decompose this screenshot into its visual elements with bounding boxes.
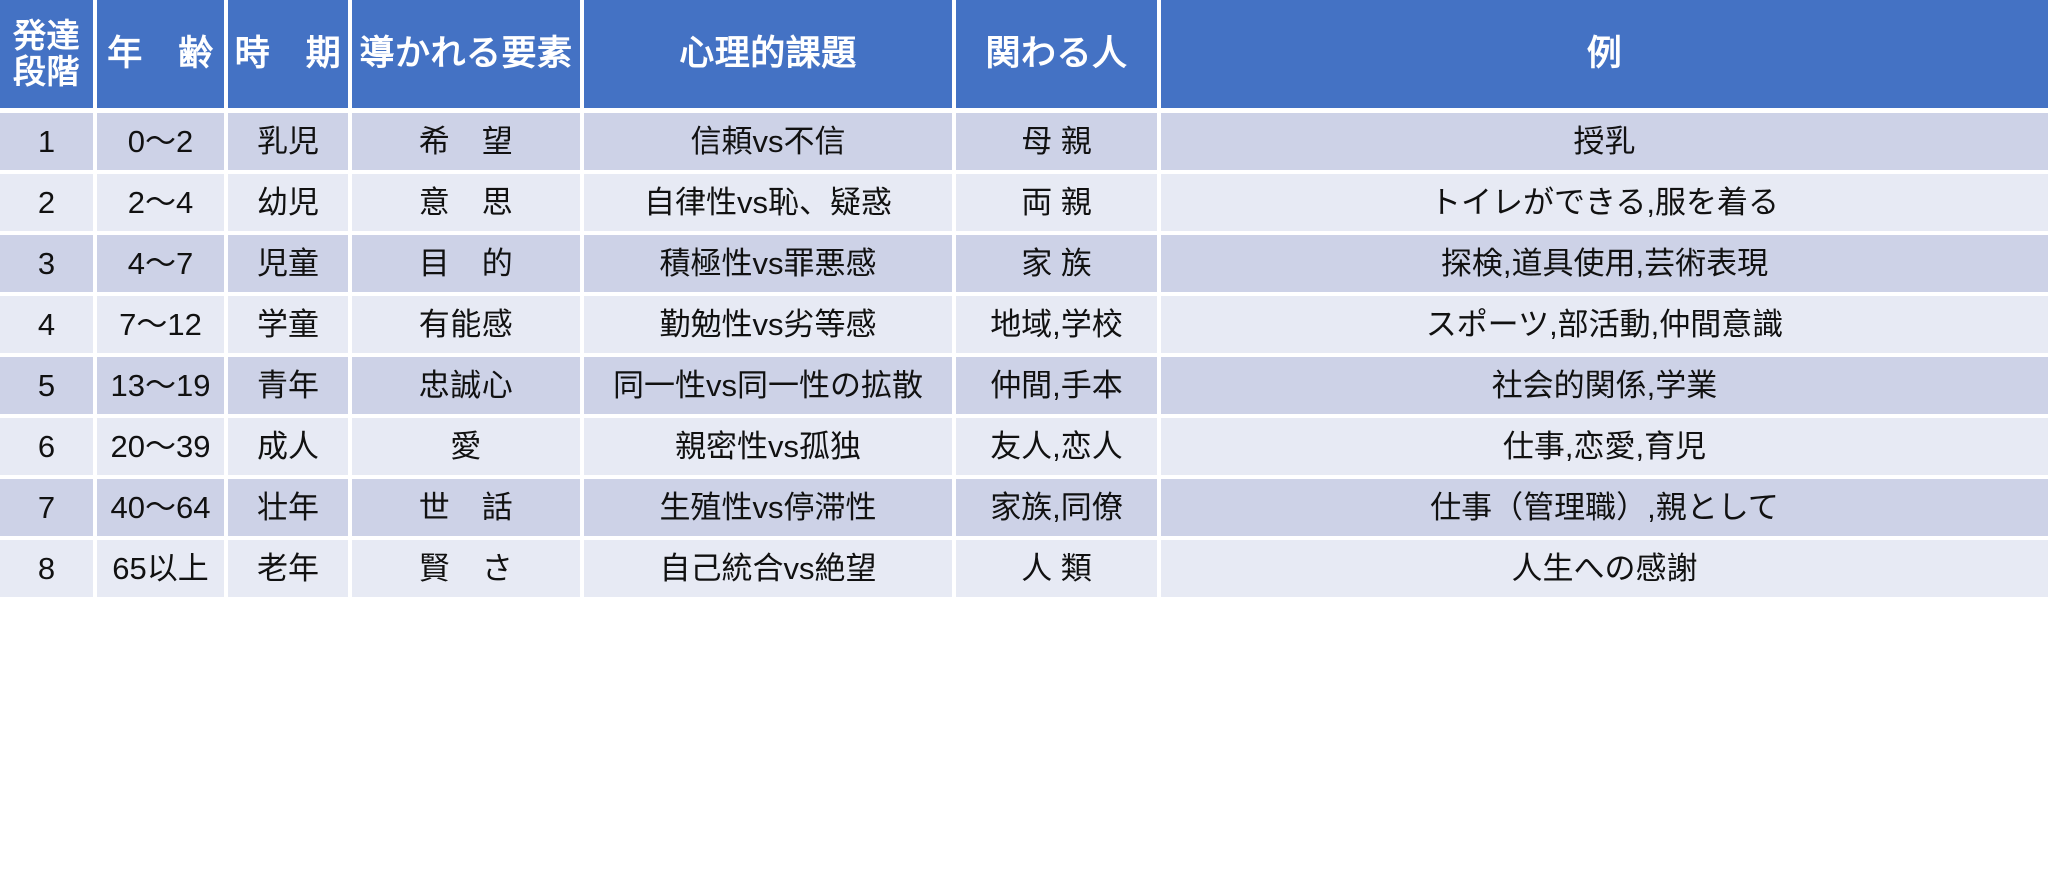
table-header-row: 発達 段階 年 齢 時 期 導かれる要素 心理的課題 関わる人 例 (0, 0, 2048, 113)
table-row: 740〜64壮年世 話生殖性vs停滞性家族,同僚仕事（管理職）,親として (0, 479, 2048, 540)
cell-stage: 1 (0, 113, 97, 174)
cell-people: 母 親 (956, 113, 1161, 174)
developmental-stages-table: 発達 段階 年 齢 時 期 導かれる要素 心理的課題 関わる人 例 10〜2乳児… (0, 0, 2048, 877)
cell-crisis: 勤勉性vs劣等感 (584, 296, 956, 357)
column-header-period: 時 期 (228, 0, 352, 113)
table-body: 10〜2乳児希 望信頼vs不信母 親授乳22〜4幼児意 思自律性vs恥、疑惑両 … (0, 113, 2048, 601)
cell-period: 老年 (228, 540, 352, 601)
cell-age: 4〜7 (97, 235, 228, 296)
cell-period: 壮年 (228, 479, 352, 540)
cell-virtue: 世 話 (352, 479, 584, 540)
cell-example: 人生への感謝 (1161, 540, 2048, 601)
cell-age: 0〜2 (97, 113, 228, 174)
cell-age: 13〜19 (97, 357, 228, 418)
cell-people: 地域,学校 (956, 296, 1161, 357)
cell-period: 成人 (228, 418, 352, 479)
cell-virtue: 目 的 (352, 235, 584, 296)
column-header-stage-line1: 発達 (13, 18, 80, 54)
cell-crisis: 自己統合vs絶望 (584, 540, 956, 601)
cell-example: トイレができる,服を着る (1161, 174, 2048, 235)
table-row: 22〜4幼児意 思自律性vs恥、疑惑両 親トイレができる,服を着る (0, 174, 2048, 235)
column-header-crisis: 心理的課題 (584, 0, 956, 113)
cell-age: 7〜12 (97, 296, 228, 357)
column-header-stage: 発達 段階 (0, 0, 97, 113)
cell-example: 仕事（管理職）,親として (1161, 479, 2048, 540)
table-row: 47〜12学童有能感勤勉性vs劣等感地域,学校スポーツ,部活動,仲間意識 (0, 296, 2048, 357)
column-header-virtue: 導かれる要素 (352, 0, 584, 113)
cell-example: 仕事,恋愛,育児 (1161, 418, 2048, 479)
cell-example: スポーツ,部活動,仲間意識 (1161, 296, 2048, 357)
cell-crisis: 生殖性vs停滞性 (584, 479, 956, 540)
table-row: 865以上老年賢 さ自己統合vs絶望人 類人生への感謝 (0, 540, 2048, 601)
cell-stage: 5 (0, 357, 97, 418)
cell-period: 学童 (228, 296, 352, 357)
cell-crisis: 同一性vs同一性の拡散 (584, 357, 956, 418)
cell-example: 探検,道具使用,芸術表現 (1161, 235, 2048, 296)
cell-stage: 7 (0, 479, 97, 540)
cell-period: 乳児 (228, 113, 352, 174)
table-row: 34〜7児童目 的積極性vs罪悪感家 族探検,道具使用,芸術表現 (0, 235, 2048, 296)
cell-crisis: 自律性vs恥、疑惑 (584, 174, 956, 235)
column-header-people: 関わる人 (956, 0, 1161, 113)
cell-period: 青年 (228, 357, 352, 418)
cell-virtue: 愛 (352, 418, 584, 479)
cell-age: 20〜39 (97, 418, 228, 479)
cell-example: 授乳 (1161, 113, 2048, 174)
cell-virtue: 希 望 (352, 113, 584, 174)
cell-people: 友人,恋人 (956, 418, 1161, 479)
cell-virtue: 賢 さ (352, 540, 584, 601)
column-header-example: 例 (1161, 0, 2048, 113)
cell-stage: 6 (0, 418, 97, 479)
cell-people: 仲間,手本 (956, 357, 1161, 418)
cell-crisis: 積極性vs罪悪感 (584, 235, 956, 296)
cell-example: 社会的関係,学業 (1161, 357, 2048, 418)
cell-stage: 8 (0, 540, 97, 601)
cell-stage: 2 (0, 174, 97, 235)
cell-period: 児童 (228, 235, 352, 296)
cell-virtue: 有能感 (352, 296, 584, 357)
cell-age: 2〜4 (97, 174, 228, 235)
table-row: 513〜19青年忠誠心同一性vs同一性の拡散仲間,手本社会的関係,学業 (0, 357, 2048, 418)
cell-stage: 3 (0, 235, 97, 296)
column-header-stage-line2: 段階 (13, 54, 80, 90)
cell-virtue: 意 思 (352, 174, 584, 235)
cell-stage: 4 (0, 296, 97, 357)
cell-people: 家族,同僚 (956, 479, 1161, 540)
cell-people: 人 類 (956, 540, 1161, 601)
table-row: 620〜39成人愛親密性vs孤独友人,恋人仕事,恋愛,育児 (0, 418, 2048, 479)
cell-period: 幼児 (228, 174, 352, 235)
cell-crisis: 親密性vs孤独 (584, 418, 956, 479)
cell-people: 家 族 (956, 235, 1161, 296)
cell-age: 40〜64 (97, 479, 228, 540)
cell-crisis: 信頼vs不信 (584, 113, 956, 174)
table-row: 10〜2乳児希 望信頼vs不信母 親授乳 (0, 113, 2048, 174)
cell-age: 65以上 (97, 540, 228, 601)
cell-people: 両 親 (956, 174, 1161, 235)
cell-virtue: 忠誠心 (352, 357, 584, 418)
column-header-age: 年 齢 (97, 0, 228, 113)
